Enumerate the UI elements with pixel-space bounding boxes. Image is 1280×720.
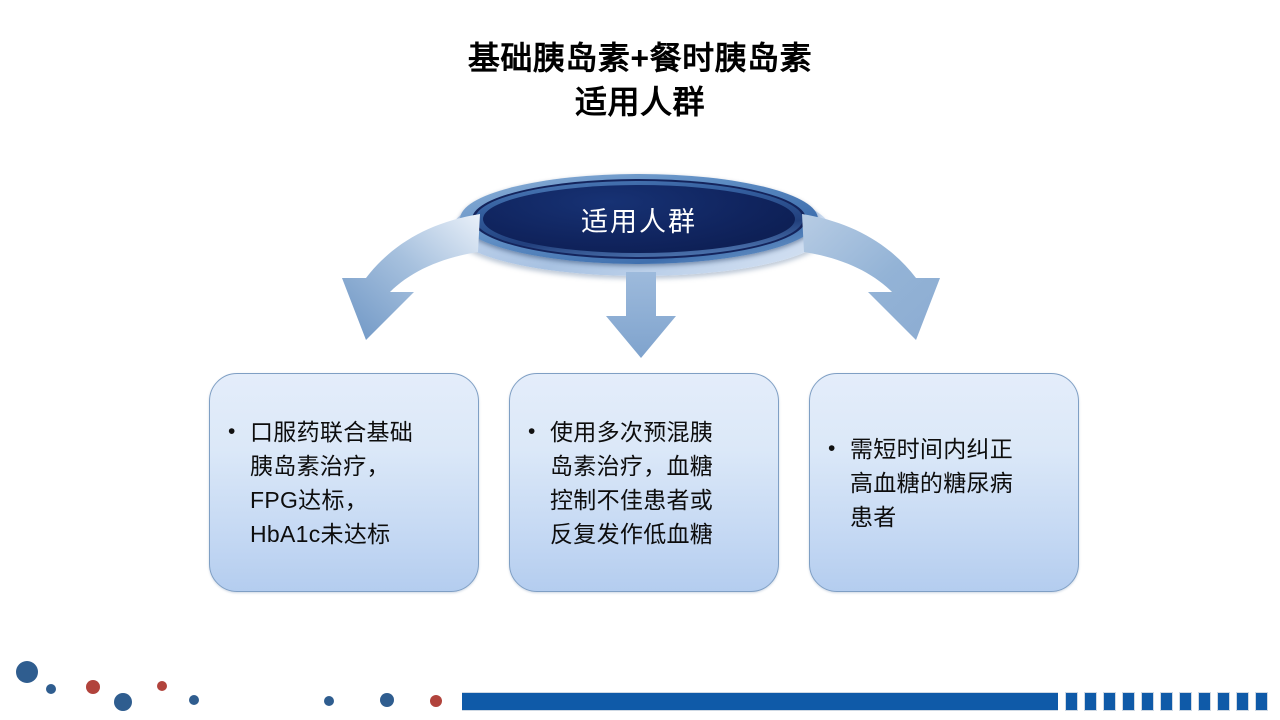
bottom-decoration [0, 0, 1280, 720]
footer-dash [1160, 692, 1173, 711]
footer-dash [1065, 692, 1078, 711]
decoration-dot [380, 693, 394, 707]
decoration-dot [430, 695, 442, 707]
decoration-dot [46, 684, 56, 694]
decoration-dot [16, 661, 38, 683]
footer-dash [1103, 692, 1116, 711]
decoration-dot [324, 696, 334, 706]
footer-dash [1217, 692, 1230, 711]
footer-dash [1198, 692, 1211, 711]
footer-bar [462, 692, 1058, 711]
slide-canvas: 基础胰岛素+餐时胰岛素 适用人群 适用人群 [0, 0, 1280, 720]
footer-dash [1236, 692, 1249, 711]
footer-dash [1084, 692, 1097, 711]
footer-dash-segments [1065, 692, 1280, 711]
decoration-dot [114, 693, 132, 711]
decoration-dot [189, 695, 199, 705]
footer-dash [1122, 692, 1135, 711]
footer-dash [1255, 692, 1268, 711]
decoration-dot [86, 680, 100, 694]
footer-dash [1141, 692, 1154, 711]
decoration-dot [157, 681, 167, 691]
footer-dash [1179, 692, 1192, 711]
